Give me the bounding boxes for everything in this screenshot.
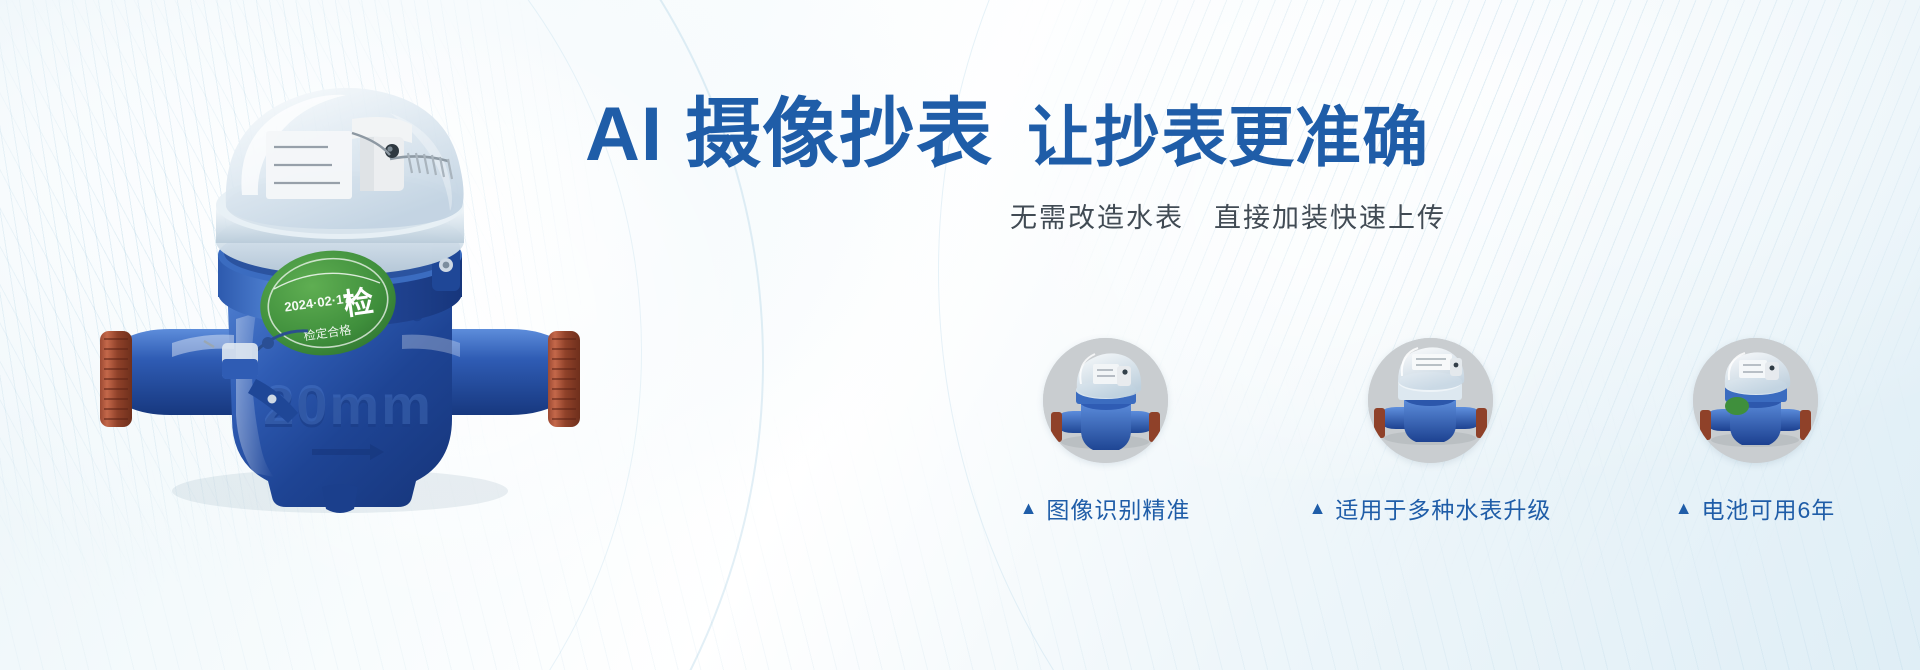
banner-copy: AI 摄像抄表让抄表更准确 无需改造水表直接加装快速上传 xyxy=(585,92,1885,236)
hero-product-image: 20mm 20mm DN20 xyxy=(60,55,620,525)
headline-sub: 让抄表更准确 xyxy=(1027,100,1429,174)
water-meter-side-thumb xyxy=(1368,338,1493,463)
feature-caption-text-1: 图像识别精准 xyxy=(1046,491,1190,525)
subtitle-part-1: 无需改造水表 xyxy=(1010,203,1184,233)
feature-list: ▲ 图像识别精准 xyxy=(960,338,1900,568)
feature-item-2[interactable]: ▲ 适用于多种水表升级 xyxy=(1285,338,1575,525)
feature-caption-3: ▲ 电池可用6年 xyxy=(1675,491,1836,525)
feature-item-3[interactable]: ▲ 电池可用6年 xyxy=(1610,338,1900,525)
feature-item-1[interactable]: ▲ 图像识别精准 xyxy=(960,338,1250,525)
banner-headline: AI 摄像抄表让抄表更准确 xyxy=(585,92,1885,180)
ai-camera-meter-banner: 20mm 20mm DN20 xyxy=(0,0,1920,670)
feature-caption-text-2: 适用于多种水表升级 xyxy=(1335,491,1551,525)
water-meter-angle-thumb xyxy=(1693,338,1818,463)
feature-caption-text-3: 电池可用6年 xyxy=(1702,491,1836,525)
banner-subtitle: 无需改造水表直接加装快速上传 xyxy=(585,200,1885,236)
feature-caption-2: ▲ 适用于多种水表升级 xyxy=(1309,491,1552,525)
triangle-bullet-icon: ▲ xyxy=(1020,499,1039,517)
water-meter-front-thumb xyxy=(1043,338,1168,463)
triangle-bullet-icon: ▲ xyxy=(1675,499,1694,517)
triangle-bullet-icon: ▲ xyxy=(1309,499,1328,517)
feature-caption-1: ▲ 图像识别精准 xyxy=(1020,491,1191,525)
subtitle-part-2: 直接加装快速上传 xyxy=(1214,203,1446,233)
headline-main: AI 摄像抄表 xyxy=(585,92,993,177)
